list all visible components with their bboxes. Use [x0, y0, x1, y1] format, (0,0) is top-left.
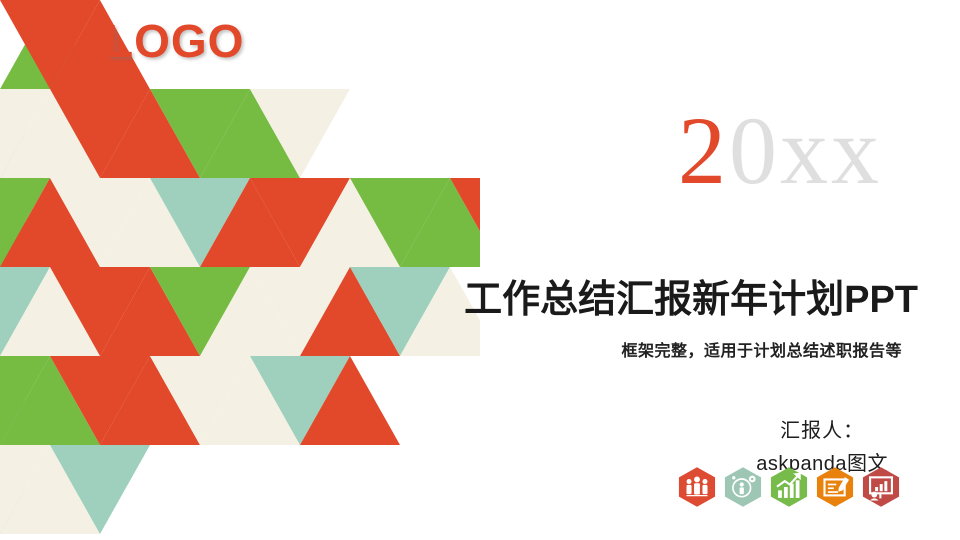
page-subtitle: 框架完整，适用于计划总结述职报告等 — [621, 337, 902, 361]
presentation-chart-icon — [860, 466, 902, 508]
presenter-label: 汇报人： — [756, 414, 888, 443]
triangle-pattern-decoration — [0, 0, 480, 540]
presentation-slide: LOGO 20xx 工作总结汇报新年计划PPT 框架完整，适用于计划总结述职报告… — [0, 0, 960, 540]
hexagon-icon-row — [676, 466, 902, 508]
person-gear-icon — [722, 466, 764, 508]
growth-chart-icon — [768, 466, 810, 508]
page-title: 工作总结汇报新年计划PPT — [464, 268, 918, 323]
year-rest-digits: 0xx — [729, 97, 882, 204]
document-edit-icon — [814, 466, 856, 508]
year-display: 20xx — [678, 103, 882, 199]
logo-text: LOGO — [105, 14, 244, 68]
people-group-icon — [676, 466, 718, 508]
year-accent-digit: 2 — [678, 97, 729, 204]
